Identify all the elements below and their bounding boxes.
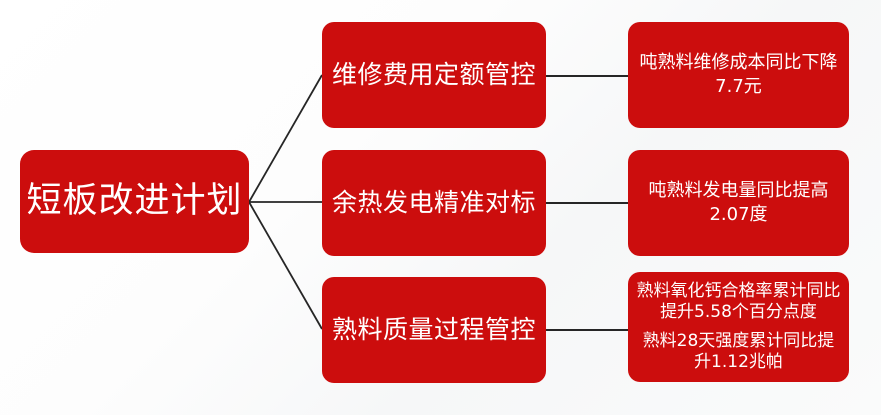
branch-node-2[interactable]: 余热发电精准对标 [322, 150, 546, 256]
result-node-1-text: 吨熟料维修成本同比下降7.7元 [628, 51, 849, 99]
branch-node-2-label: 余热发电精准对标 [332, 188, 536, 218]
branch-node-1-label: 维修费用定额管控 [332, 60, 536, 90]
result-node-1[interactable]: 吨熟料维修成本同比下降7.7元 [628, 22, 849, 128]
result-node-3-text-line-2: 熟料28天强度累计同比提升1.12兆帕 [628, 331, 849, 374]
branch-node-1[interactable]: 维修费用定额管控 [322, 22, 546, 128]
branch-node-3[interactable]: 熟料质量过程管控 [322, 277, 546, 383]
result-node-3-text-line-1: 熟料氧化钙合格率累计同比提升5.58个百分点度 [628, 281, 849, 324]
root-node-label: 短板改进计划 [26, 181, 242, 222]
root-node[interactable]: 短板改进计划 [20, 150, 249, 253]
result-node-2-text: 吨熟料发电量同比提高2.07度 [628, 179, 849, 227]
branch-node-3-label: 熟料质量过程管控 [332, 315, 536, 345]
result-node-3[interactable]: 熟料氧化钙合格率累计同比提升5.58个百分点度 熟料28天强度累计同比提升1.1… [628, 272, 849, 382]
connector-root-to-branch-3 [249, 202, 322, 329]
diagram-canvas: 短板改进计划 维修费用定额管控 余热发电精准对标 熟料质量过程管控 吨熟料维修成… [0, 0, 881, 415]
result-node-2[interactable]: 吨熟料发电量同比提高2.07度 [628, 150, 849, 256]
connector-root-to-branch-1 [249, 75, 322, 202]
